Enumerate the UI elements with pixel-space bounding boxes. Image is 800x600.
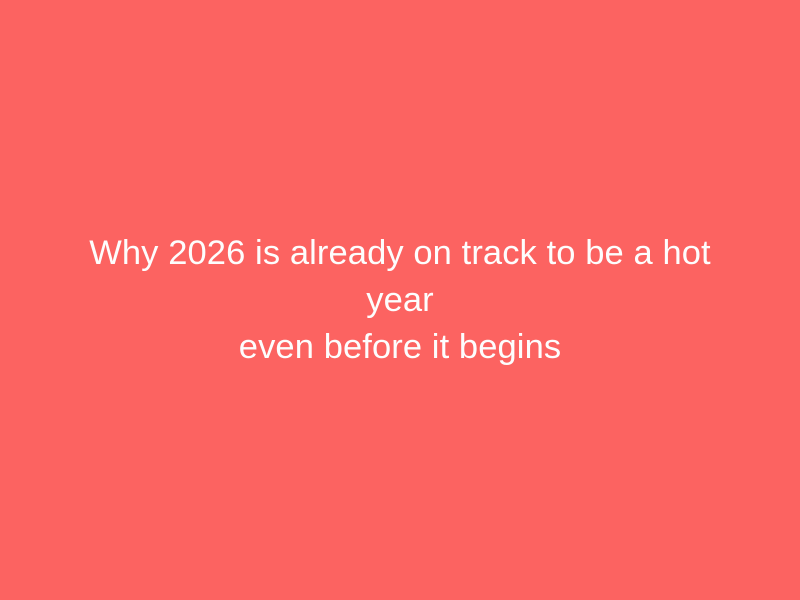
- article-header-banner: Why 2026 is already on track to be a hot…: [0, 0, 800, 600]
- headline-text: Why 2026 is already on track to be a hot…: [60, 230, 740, 371]
- headline-block: Why 2026 is already on track to be a hot…: [50, 230, 750, 371]
